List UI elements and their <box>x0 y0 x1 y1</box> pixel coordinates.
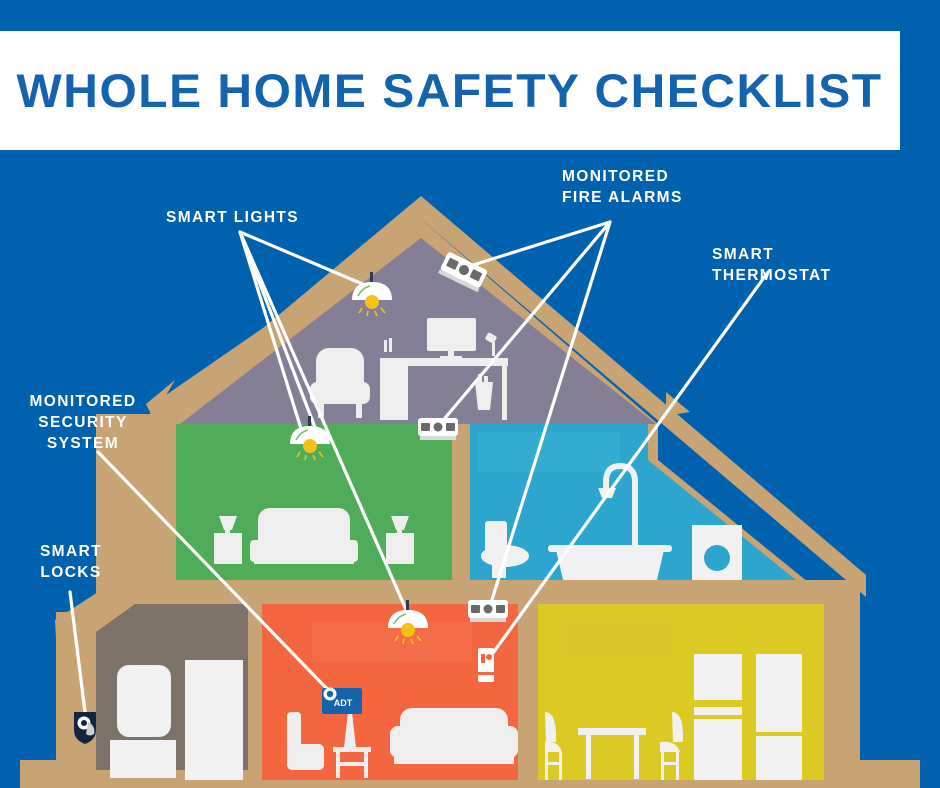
chair-leg <box>559 752 562 780</box>
leader-fire-alarm-1 <box>470 222 610 266</box>
sofa-seat <box>390 726 518 758</box>
dining-table-top <box>578 728 646 735</box>
kitchen-counter <box>694 707 742 715</box>
kitchen-lower-cabinet <box>694 719 742 780</box>
side-table-shelf <box>336 762 368 766</box>
paper <box>484 376 488 382</box>
garage-workbench <box>110 740 176 778</box>
sofa-base <box>394 756 514 764</box>
desk-lamp-arm <box>492 342 495 356</box>
chair-leg <box>661 752 664 780</box>
nightstand-right <box>386 533 414 564</box>
desk-pedestal <box>380 358 408 420</box>
nightstand-left <box>214 533 242 564</box>
callout-label-monitored-security-system: MONITORED SECURITY SYSTEM <box>28 391 138 454</box>
pencil <box>384 340 387 352</box>
adt-brand-text: ADT <box>334 698 353 708</box>
garage-cabinet <box>117 665 171 737</box>
monitor-base <box>440 356 462 359</box>
chair-rung <box>661 762 679 765</box>
security-panel-adt[interactable]: ADT <box>322 688 362 715</box>
lamp-stem-left <box>225 528 230 536</box>
waste-basket <box>475 382 493 410</box>
desk-leg <box>502 366 507 420</box>
dining-table-leg <box>634 735 639 779</box>
chair-leg <box>676 752 679 780</box>
lamp-stem-right <box>397 528 402 536</box>
washer-door <box>704 545 730 571</box>
infographic-canvas: WHOLE HOME SAFETY CHECKLIST <box>0 0 940 788</box>
pencil <box>389 338 392 352</box>
chair-rung <box>545 762 562 765</box>
callout-label-monitored-fire-alarms: MONITORED FIRE ALARMS <box>562 166 683 208</box>
callout-label-smart-thermostat: SMART THERMOSTAT <box>712 244 831 286</box>
chair-leg <box>545 752 548 780</box>
floor-beam <box>96 580 860 602</box>
kitchen-upper-cabinet <box>694 654 742 700</box>
armchair-leg-right <box>356 400 362 418</box>
refrigerator-top <box>756 654 802 732</box>
refrigerator-bottom <box>756 736 802 780</box>
bed-base <box>254 556 354 564</box>
monitor-screen <box>427 318 476 351</box>
smart-thermostat-device[interactable] <box>478 648 494 682</box>
dining-table-leg <box>586 735 591 779</box>
bathroom-mirror-band <box>478 432 620 472</box>
fire-alarm-bedroom[interactable] <box>418 418 458 440</box>
callout-label-smart-locks: SMART LOCKS <box>33 541 109 583</box>
callout-label-smart-lights: SMART LIGHTS <box>166 207 299 228</box>
kitchen-wall-band <box>562 618 674 656</box>
fire-alarm-living[interactable] <box>468 600 508 622</box>
house-cutaway-illustration: ADT <box>0 0 940 788</box>
garage-door-panel <box>185 660 243 780</box>
chair-seat <box>287 744 324 770</box>
